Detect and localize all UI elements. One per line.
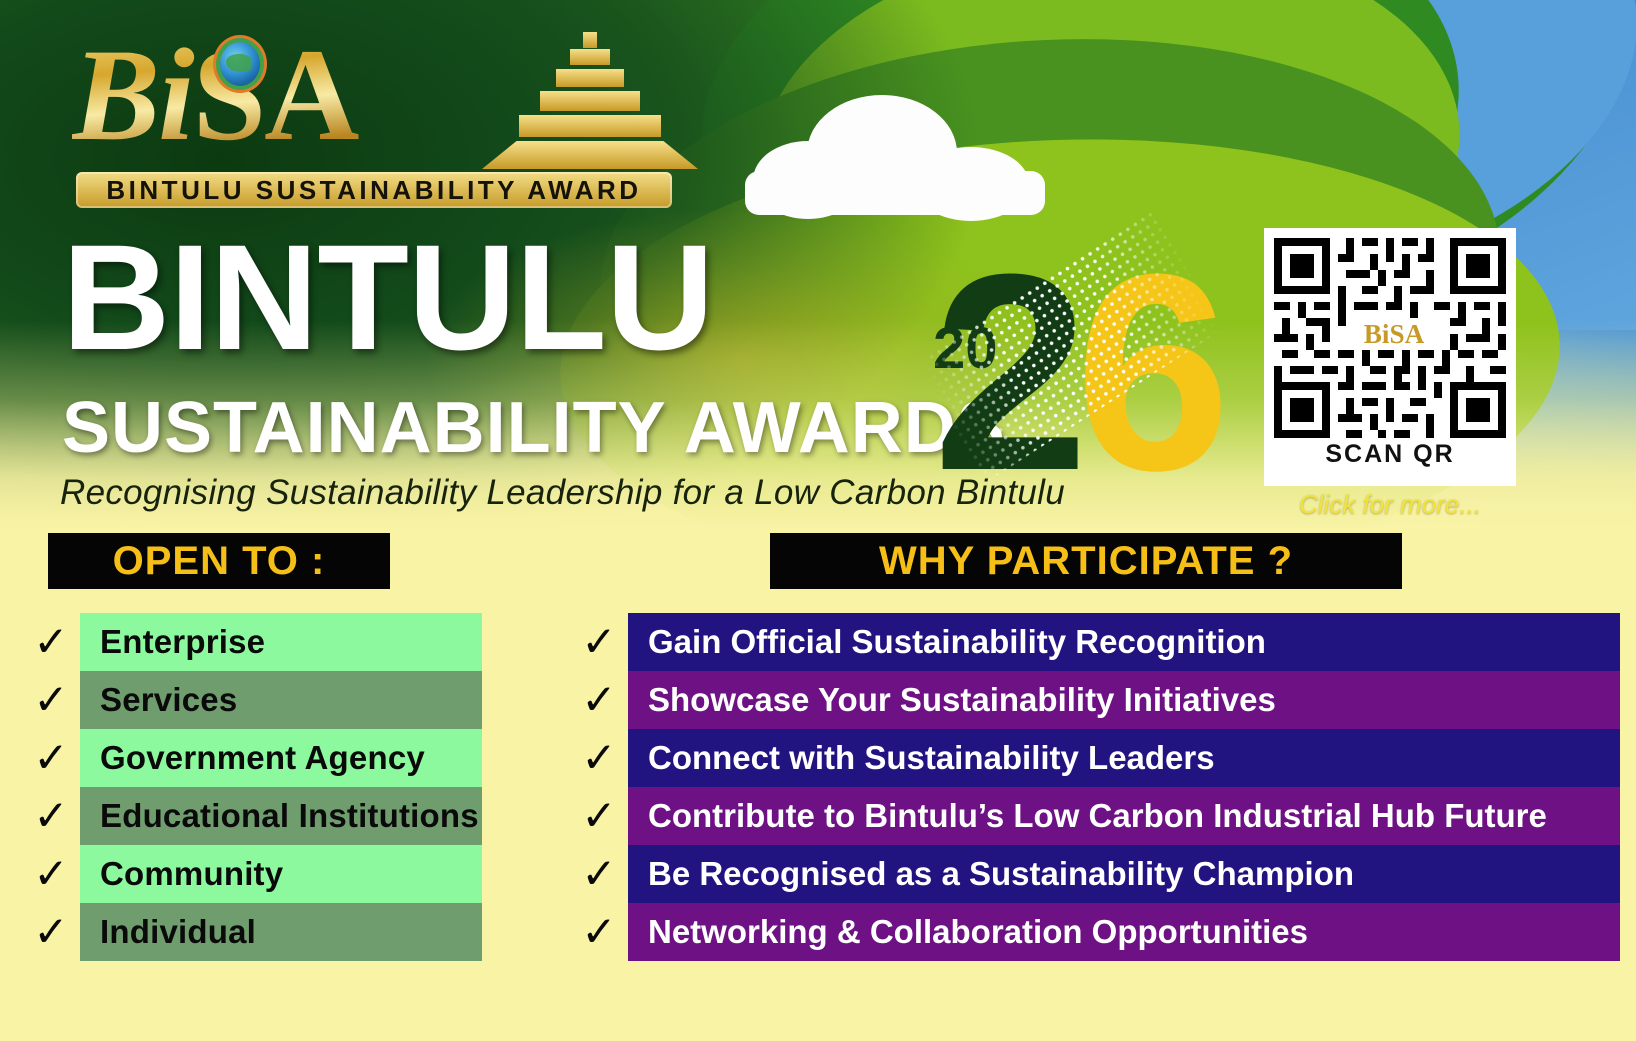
list-item: ✓Government Agency [22, 729, 482, 787]
page-subtitle: SUSTAINABILITY AWARDS [62, 392, 1006, 464]
check-icon: ✓ [22, 903, 80, 961]
check-icon: ✓ [570, 903, 628, 961]
open-to-item-1: Services [80, 671, 482, 729]
why-item-5: Networking & Collaboration Opportunities [628, 903, 1620, 961]
logo-plate-text: BINTULU SUSTAINABILITY AWARD [76, 172, 672, 208]
open-to-item-3: Educational Institutions [80, 787, 482, 845]
check-icon: ✓ [570, 729, 628, 787]
list-item: ✓Be Recognised as a Sustainability Champ… [570, 845, 1620, 903]
list-item: ✓Networking & Collaboration Opportunitie… [570, 903, 1620, 961]
year-digit-6: 6 [1075, 243, 1231, 503]
open-to-item-0: Enterprise [80, 613, 482, 671]
check-icon: ✓ [570, 613, 628, 671]
why-item-2: Connect with Sustainability Leaders [628, 729, 1620, 787]
list-item: ✓Enterprise [22, 613, 482, 671]
bisa-logo[interactable]: BiSA BINTULU SUSTAINABILITY AWARD [72, 22, 672, 212]
why-item-0: Gain Official Sustainability Recognition [628, 613, 1620, 671]
page-title: BINTULU [62, 222, 713, 372]
why-item-1: Showcase Your Sustainability Initiatives [628, 671, 1620, 729]
qr-click-text[interactable]: Click for more... [1264, 489, 1516, 520]
check-icon: ✓ [570, 845, 628, 903]
list-item: ✓Individual [22, 903, 482, 961]
qr-code-icon[interactable]: BiSA [1274, 238, 1506, 438]
tower-icon [480, 32, 700, 172]
svg-text:BiSA: BiSA [1364, 319, 1425, 349]
list-item: ✓Showcase Your Sustainability Initiative… [570, 671, 1620, 729]
year-badge: 2 6 20 [915, 235, 1215, 515]
open-to-list: ✓Enterprise✓Services✓Government Agency✓E… [22, 613, 482, 961]
open-to-item-2: Government Agency [80, 729, 482, 787]
list-item: ✓Contribute to Bintulu’s Low Carbon Indu… [570, 787, 1620, 845]
list-item: ✓Connect with Sustainability Leaders [570, 729, 1620, 787]
open-to-item-4: Community [80, 845, 482, 903]
qr-label: SCAN QR [1274, 440, 1506, 469]
check-icon: ✓ [22, 613, 80, 671]
why-participate-heading: WHY PARTICIPATE ? [770, 533, 1402, 589]
list-item: ✓Gain Official Sustainability Recognitio… [570, 613, 1620, 671]
poster-root: BiSA BINTULU SUSTAINABILITY AWARD BINTUL… [0, 0, 1636, 1041]
check-icon: ✓ [570, 671, 628, 729]
open-to-item-5: Individual [80, 903, 482, 961]
open-to-heading: OPEN TO : [48, 533, 390, 589]
cloud-icon [745, 95, 1045, 215]
check-icon: ✓ [22, 787, 80, 845]
qr-code-panel[interactable]: BiSA SCAN QR [1264, 228, 1516, 486]
check-icon: ✓ [22, 845, 80, 903]
list-item: ✓Community [22, 845, 482, 903]
check-icon: ✓ [22, 729, 80, 787]
bisa-logo-icon: BiSA [1364, 319, 1425, 349]
check-icon: ✓ [22, 671, 80, 729]
why-item-3: Contribute to Bintulu’s Low Carbon Indus… [628, 787, 1620, 845]
list-item: ✓Services [22, 671, 482, 729]
year-prefix: 20 [933, 315, 998, 382]
check-icon: ✓ [570, 787, 628, 845]
list-item: ✓Educational Institutions [22, 787, 482, 845]
globe-icon [220, 42, 260, 86]
why-participate-list: ✓Gain Official Sustainability Recognitio… [570, 613, 1620, 961]
why-item-4: Be Recognised as a Sustainability Champi… [628, 845, 1620, 903]
